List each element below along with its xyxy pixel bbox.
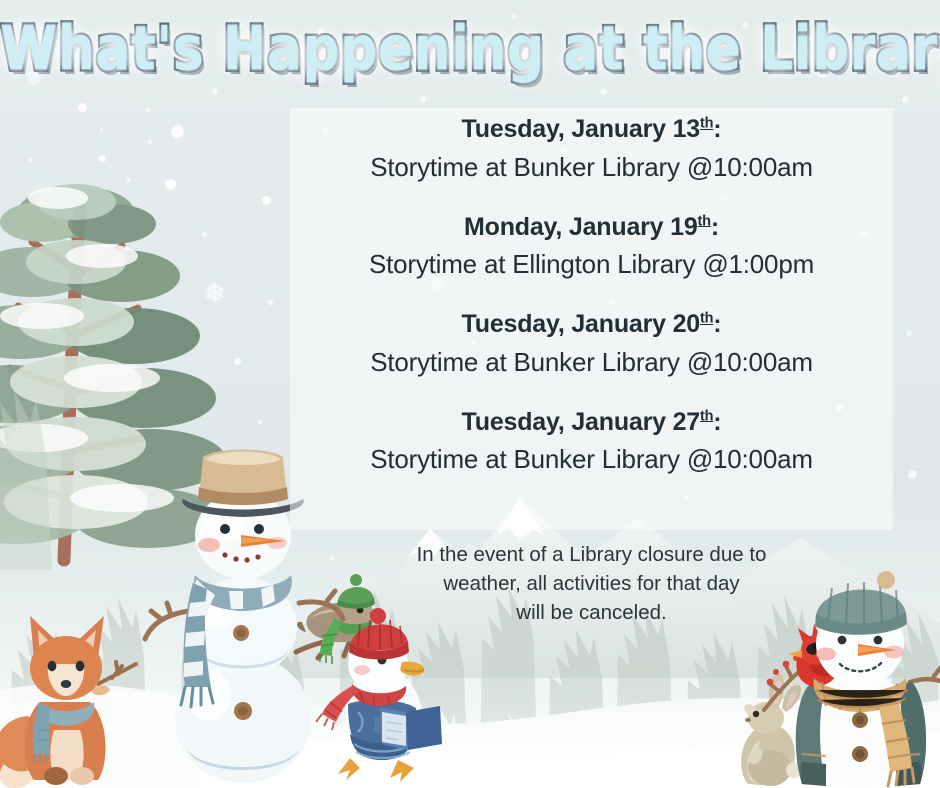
event-date-text: Tuesday, January 27 [462, 408, 700, 436]
event-detail: Storytime at Bunker Library @10:00am [290, 343, 893, 382]
event-date-text: Tuesday, January 20 [462, 310, 700, 338]
library-events-flyer: ❄ ❄ ❅ What's Happening at the Library? T… [0, 0, 940, 788]
event-date-suffix: th [700, 116, 713, 132]
page-title: What's Happening at the Library? [0, 14, 940, 85]
event-date-suffix: th [700, 311, 713, 327]
event-date-punct: : [713, 408, 721, 436]
event-date-suffix: th [700, 408, 713, 424]
event-date: Tuesday, January 27th: [290, 405, 893, 441]
event-detail: Storytime at Bunker Library @10:00am [290, 148, 893, 187]
event-date-text: Tuesday, January 13 [462, 115, 700, 143]
event-date-punct: : [713, 115, 721, 143]
closure-line-3: will be canceled. [290, 598, 893, 627]
fox-illustration [0, 606, 144, 788]
page-title-container: What's Happening at the Library? [0, 14, 940, 74]
event-list: Tuesday, January 13th: Storytime at Bunk… [290, 112, 893, 479]
event-date-punct: : [713, 310, 721, 338]
closure-notice: In the event of a Library closure due to… [290, 540, 893, 627]
event-date-text: Monday, January 19 [464, 213, 698, 241]
event-date: Monday, January 19th: [290, 210, 893, 246]
event-date: Tuesday, January 13th: [290, 112, 893, 148]
event-date: Tuesday, January 20th: [290, 307, 893, 343]
closure-line-2: weather, all activities for that day [290, 569, 893, 598]
event-detail: Storytime at Ellington Library @1:00pm [290, 245, 893, 284]
event-date-punct: : [711, 213, 719, 241]
event-detail: Storytime at Bunker Library @10:00am [290, 440, 893, 479]
event-item: Monday, January 19th: Storytime at Ellin… [290, 210, 893, 285]
event-item: Tuesday, January 13th: Storytime at Bunk… [290, 112, 893, 187]
closure-line-1: In the event of a Library closure due to [290, 540, 893, 569]
event-item: Tuesday, January 27th: Storytime at Bunk… [290, 405, 893, 480]
event-date-suffix: th [698, 213, 711, 229]
event-item: Tuesday, January 20th: Storytime at Bunk… [290, 307, 893, 382]
